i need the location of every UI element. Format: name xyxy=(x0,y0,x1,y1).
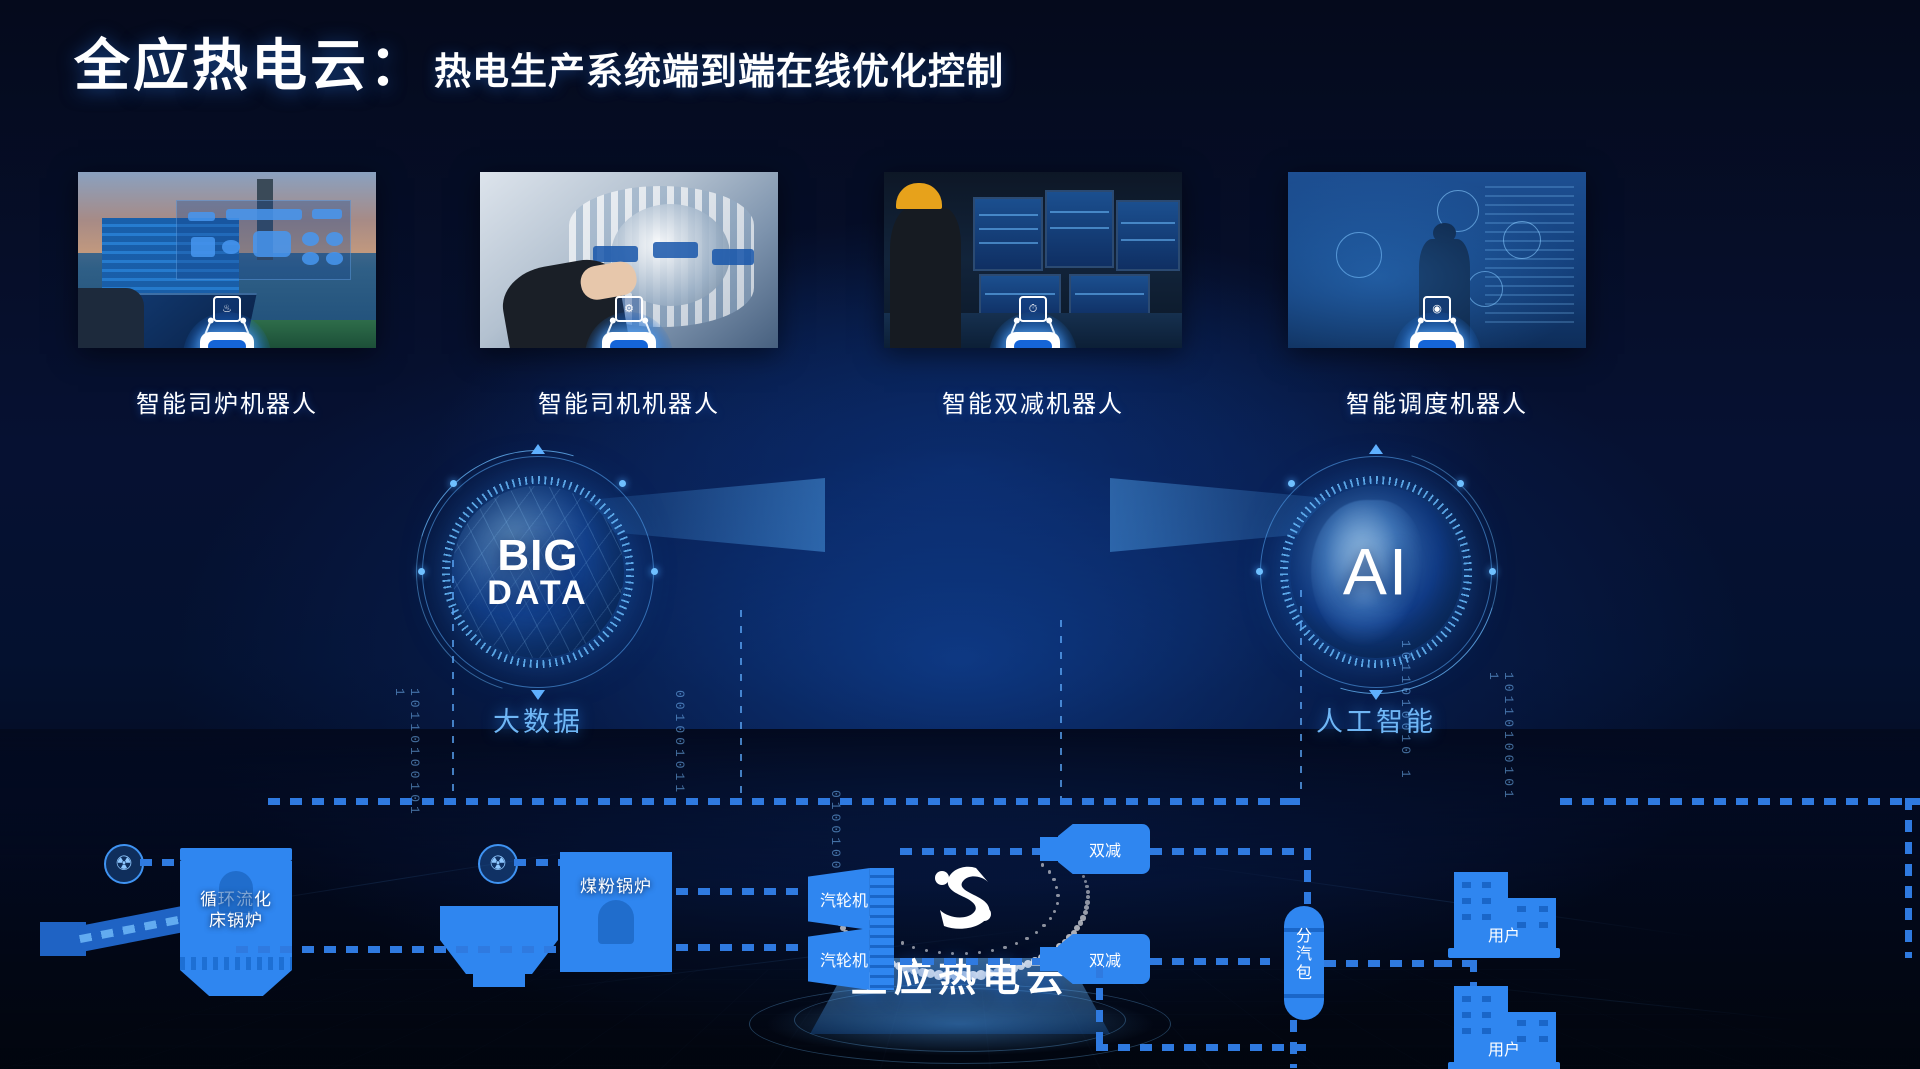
dual-reduction-bottom: 双减 xyxy=(1040,934,1150,984)
ai-caption: 人工智能 xyxy=(1260,700,1492,739)
ctrl-drop-ai xyxy=(1300,590,1302,798)
user-pipe-2 xyxy=(1440,960,1474,967)
steam-header: 分 汽 包 xyxy=(1284,906,1324,1020)
dual-reduction-bottom-label: 双减 xyxy=(1062,947,1148,971)
cfb-boiler-line2: 床锅炉 xyxy=(209,911,263,930)
gear-chip-icon: ⚙ xyxy=(615,296,643,322)
steam-pipe-1 xyxy=(676,888,812,895)
sensor-icon-2: ☢ xyxy=(478,844,518,884)
return-pipe xyxy=(1096,1044,1310,1051)
robot-icon xyxy=(200,332,254,348)
cfb-boiler: 循环流化 床锅炉 xyxy=(180,848,292,996)
robot-card-3[interactable]: ⏱ 智能双减机器人 xyxy=(884,172,1182,419)
control-bus-top xyxy=(268,798,1288,805)
turbine-top: 汽轮机 xyxy=(808,868,894,930)
header-pipe-bottom xyxy=(1150,958,1270,965)
dual-reduction-top-label: 双减 xyxy=(1062,837,1148,861)
cfb-boiler-line1: 循环流化 xyxy=(200,890,272,909)
process-diagram: ☢ 循环流化 床锅炉 ☢ 煤粉锅炉 xyxy=(0,760,1920,1069)
dr-pipe-top xyxy=(900,848,1044,855)
steam-header-l1: 分 xyxy=(1296,928,1312,945)
title-main: 全应热电云： xyxy=(74,38,428,94)
control-bus-top-2 xyxy=(1288,798,1304,805)
header-pipe-top xyxy=(1150,848,1310,855)
flame-chip-icon: ♨ xyxy=(213,296,241,322)
return-riser xyxy=(1096,966,1103,1046)
user-building-bottom-label: 用户 xyxy=(1452,1036,1556,1060)
user-pipe-1 xyxy=(1324,960,1454,967)
valve-chip-icon: ⏱ xyxy=(1019,296,1047,322)
page-title: 全应热电云： 热电生产系统端到端在线优化控制 xyxy=(74,38,1004,94)
pc-boiler-label: 煤粉锅炉 xyxy=(560,876,672,897)
big-data-line1: BIG xyxy=(422,534,654,577)
sensor-pipe-2 xyxy=(514,859,562,866)
robot-badge-3: ⏱ xyxy=(989,302,1077,348)
user-building-top-label: 用户 xyxy=(1452,922,1556,946)
robot-badge-4: ◉ xyxy=(1393,302,1481,348)
control-bus-top-right xyxy=(1560,798,1920,805)
robot-card-1[interactable]: ♨ 智能司炉机器人 xyxy=(78,172,376,419)
dual-reduction-top: 双减 xyxy=(1040,824,1150,874)
big-data-line2: DATA xyxy=(422,577,654,610)
ctrl-drop-center-1 xyxy=(740,610,742,798)
right-riser xyxy=(1905,798,1912,958)
steam-header-label: 分 汽 包 xyxy=(1284,928,1324,983)
user-pipe-down xyxy=(1290,1020,1297,1068)
turbine-bottom-label: 汽轮机 xyxy=(812,947,876,971)
card-thumbnail-1: ♨ xyxy=(78,172,376,348)
steam-header-l2: 汽 xyxy=(1296,946,1312,963)
dr-pipe-bottom xyxy=(900,958,1044,965)
steam-pipe-2 xyxy=(676,944,812,951)
user-building-bottom[interactable]: 用户 xyxy=(1452,986,1556,1069)
card-thumbnail-4: ◉ xyxy=(1288,172,1586,348)
middle-section: BIG DATA 大数据 AI 人工智能 xyxy=(0,400,1920,760)
card-thumbnail-2: ⚙ xyxy=(480,172,778,348)
robot-card-2[interactable]: ⚙ 智能司机机器人 xyxy=(480,172,778,419)
robot-card-4[interactable]: ◉ 智能调度机器人 xyxy=(1288,172,1586,419)
big-data-sphere: BIG DATA 大数据 xyxy=(422,456,654,688)
turbine-bottom: 汽轮机 xyxy=(808,928,894,990)
robot-icon xyxy=(1006,332,1060,348)
ai-sphere: AI 人工智能 xyxy=(1260,456,1492,688)
ai-line1: AI xyxy=(1260,540,1492,605)
robot-badge-2: ⚙ xyxy=(585,302,673,348)
turbine-top-label: 汽轮机 xyxy=(812,887,876,911)
card-thumbnail-3: ⏱ xyxy=(884,172,1182,348)
slide-canvas: 全应热电云： 热电生产系统端到端在线优化控制 xyxy=(0,0,1920,1069)
robot-card-row: ♨ 智能司炉机器人 ⚙ xyxy=(0,172,1920,412)
big-data-label: BIG DATA xyxy=(422,534,654,610)
ai-label: AI xyxy=(1260,540,1492,605)
title-subtitle: 热电生产系统端到端在线优化控制 xyxy=(434,53,1004,94)
robot-icon xyxy=(602,332,656,348)
steam-pipe-cfb xyxy=(236,946,566,953)
ctrl-drop-center-2 xyxy=(1060,620,1062,798)
robot-icon xyxy=(1410,332,1464,348)
robot-badge-1: ♨ xyxy=(183,302,271,348)
sensor-icon: ☢ xyxy=(104,844,144,884)
steam-header-l3: 包 xyxy=(1296,965,1312,982)
chart-chip-icon: ◉ xyxy=(1423,296,1451,322)
user-building-top[interactable]: 用户 xyxy=(1452,872,1556,958)
big-data-caption: 大数据 xyxy=(422,700,654,739)
pc-boiler: 煤粉锅炉 xyxy=(560,852,672,972)
